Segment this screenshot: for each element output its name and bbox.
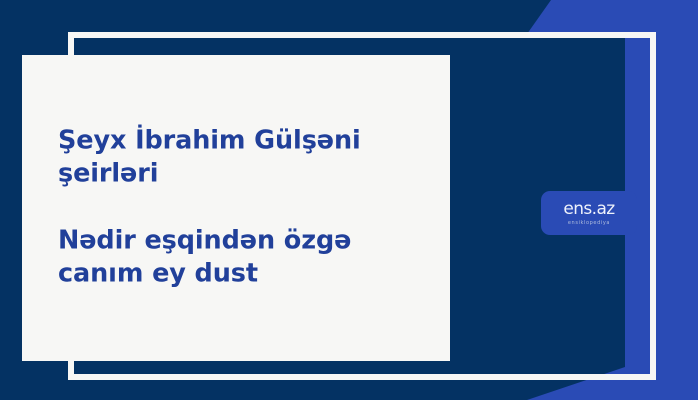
- card-text-block: Şeyx İbrahim Gülşəni şeirləri Nədir eşqi…: [58, 125, 426, 292]
- card-title: Şeyx İbrahim Gülşəni şeirləri: [58, 125, 426, 191]
- card-title-line-2: şeirləri: [58, 158, 426, 191]
- card-subtitle: Nədir eşqindən özgə canım ey dust: [58, 225, 426, 291]
- content-card: Şeyx İbrahim Gülşəni şeirləri Nədir eşqi…: [22, 55, 450, 361]
- card-subtitle-line-1: Nədir eşqindən özgə: [58, 225, 426, 258]
- ens-az-logo-badge[interactable]: ens.az ensiklopediya: [541, 191, 637, 235]
- share-card-canvas: Şeyx İbrahim Gülşəni şeirləri Nədir eşqi…: [0, 0, 698, 400]
- card-subtitle-line-2: canım ey dust: [58, 258, 426, 291]
- logo-wordmark: ens.az: [563, 201, 614, 218]
- title-subtitle-spacer: [58, 191, 426, 225]
- logo-tagline: ensiklopediya: [568, 221, 610, 226]
- card-title-line-1: Şeyx İbrahim Gülşəni: [58, 125, 426, 158]
